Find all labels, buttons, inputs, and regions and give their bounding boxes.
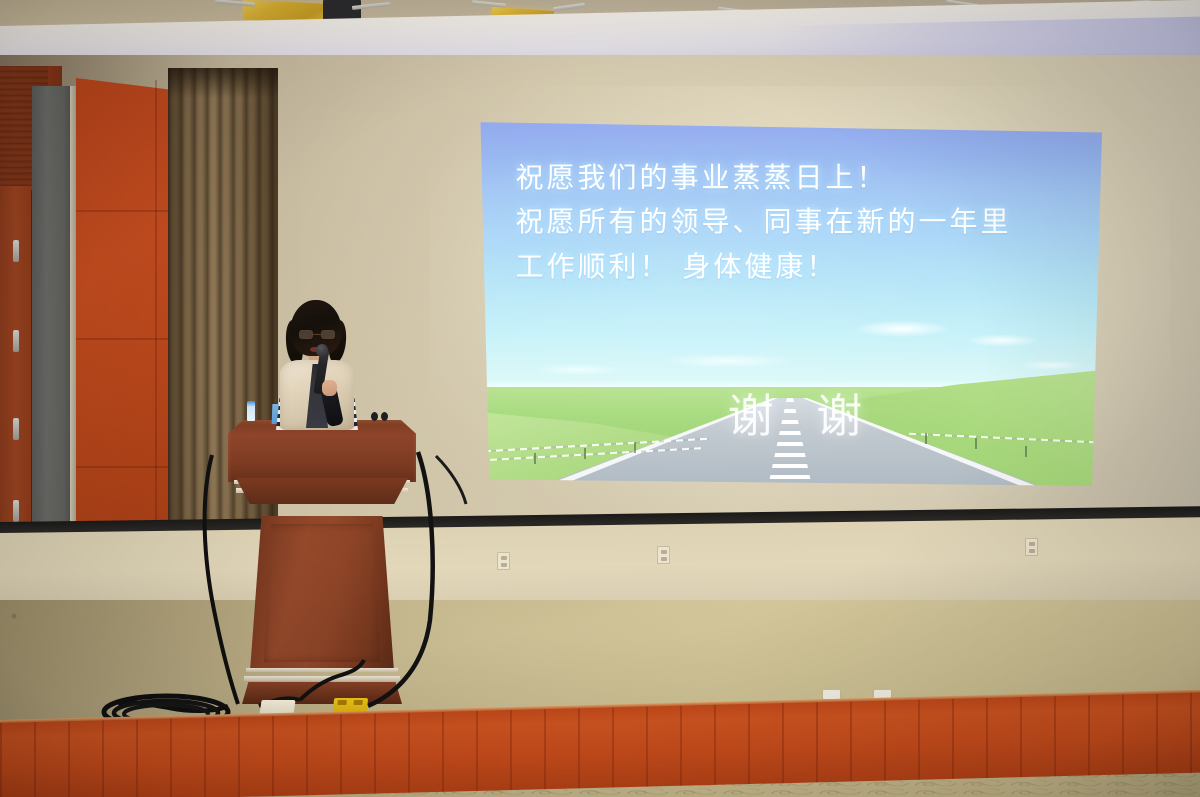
lens-left [299,330,313,339]
slide-thanks-text: 谢 谢 [728,380,877,446]
guardrail-post-5 [975,438,977,449]
water-bottle[interactable] [247,401,255,421]
slide-greeting-text: 祝愿我们的事业蒸蒸日上！ 祝愿所有的领导、同事在新的一年里 工作顺利！ 身体健康… [515,157,1089,291]
slide-line-3: 工作顺利！ 身体健康！ [515,246,1089,289]
podium-stripe-base-2 [244,676,400,681]
door-hinge-3 [13,418,19,440]
orange-panel-seam-2 [76,338,176,340]
podium [222,420,422,710]
podium-neck [236,478,408,504]
wall-outlet-left[interactable] [657,546,670,564]
guardrail-post-3 [634,442,636,453]
lens-right [321,330,335,339]
conference-hall-photo: 祝愿我们的事业蒸蒸日上！ 祝愿所有的领导、同事在新的一年里 工作顺利！ 身体健康… [0,0,1200,797]
wall-outlet-center[interactable] [1025,538,1038,556]
guardrail-post-6 [925,433,927,444]
slide-line-2: 祝愿所有的领导、同事在新的一年里 [515,201,1089,244]
speaker-person [262,300,382,430]
projection-screen: 祝愿我们的事业蒸蒸日上！ 祝愿所有的领导、同事在新的一年里 工作顺利！ 身体健康… [478,120,1102,486]
orange-panel-seam-3 [76,466,176,468]
podium-front-inset [264,524,380,662]
orange-panel-seam-1 [76,210,176,212]
wall-outlet-right[interactable] [497,552,510,570]
guardrail-post-2 [584,448,586,459]
floor-tag-a [823,690,840,699]
glasses-bridge [313,334,321,335]
presentation-slide: 祝愿我们的事业蒸蒸日上！ 祝愿所有的领导、同事在新的一年里 工作顺利！ 身体健康… [478,120,1102,486]
hand [322,380,337,396]
guardrail-post-1 [534,453,536,464]
curtain-top-shadow [168,68,278,98]
slide-line-1: 祝愿我们的事业蒸蒸日上！ [515,157,1089,200]
door-hinge-2 [13,330,19,352]
eyeglasses [299,330,335,339]
door-hinge-4 [13,500,19,522]
guardrail-post-4 [1025,446,1027,457]
door-hinge-1 [13,240,19,262]
podium-stripe-base-1 [246,668,398,672]
